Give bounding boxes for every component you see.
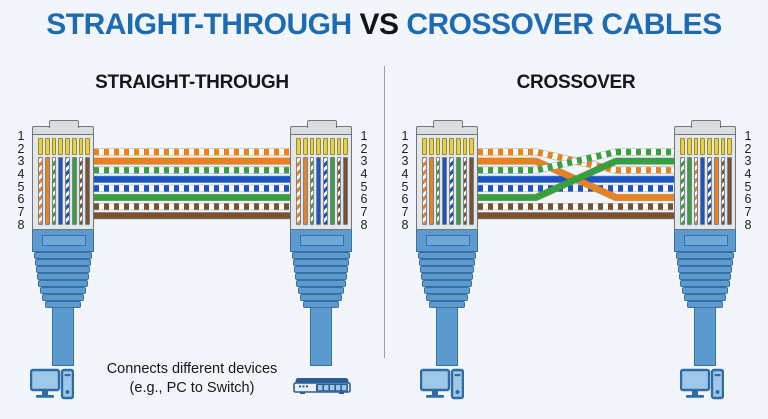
pc-desktop-glyph [420, 367, 464, 401]
wire-end-2-green [687, 157, 692, 225]
boot-window [684, 235, 728, 246]
plug-head [32, 126, 94, 134]
pin-number-4: 4 [355, 168, 373, 181]
wire-end-3-white-green [52, 157, 57, 225]
strain-rib-7 [684, 294, 726, 301]
strain-rib-5 [38, 280, 88, 287]
pin-numbers-right: 12345678 [355, 130, 373, 232]
wire-run-crossover [478, 148, 674, 226]
pin-number-8: 8 [12, 219, 30, 232]
wire-end-6-green [456, 157, 461, 225]
wire-end-2-orange [45, 157, 50, 225]
panel-crossover: 12345678 12345678 Connec [384, 0, 768, 419]
contact-4 [700, 138, 705, 155]
plug-wire-ends [422, 157, 474, 225]
crossover-wire-svg [478, 148, 674, 226]
wire-end-6-orange [714, 157, 719, 225]
boot-window [42, 235, 86, 246]
strain-rib-6 [298, 287, 344, 294]
pin-number-8: 8 [396, 219, 414, 232]
plug-latch-tab [433, 120, 463, 128]
contact-7 [721, 138, 726, 155]
plug-body [674, 134, 736, 230]
caption-line-1: Connects different devices [0, 360, 384, 379]
strain-rib-5 [296, 280, 346, 287]
strain-rib-4 [295, 273, 347, 280]
pin-number-8: 8 [355, 219, 373, 232]
contact-8 [343, 138, 348, 155]
caption-straight-through: Connects different devices (e.g., PC to … [0, 360, 384, 398]
contact-7 [463, 138, 468, 155]
contact-1 [296, 138, 301, 155]
plug-latch-tab [307, 120, 337, 128]
contact-3 [52, 138, 57, 155]
strain-relief [416, 252, 478, 308]
wire-end-3-white-green [310, 157, 315, 225]
plug-gold-contacts [296, 138, 348, 155]
strain-rib-2 [419, 259, 475, 266]
wire-end-6-green [72, 157, 77, 225]
strain-rib-1 [676, 252, 734, 259]
plug-boot [416, 230, 478, 252]
contact-1 [680, 138, 685, 155]
pc-desktop-icon [680, 367, 724, 406]
wire-end-5-white-blue [707, 157, 712, 225]
wire-end-7-white-brown [463, 157, 468, 225]
strain-rib-4 [37, 273, 89, 280]
strain-rib-4 [421, 273, 473, 280]
wire-end-1-white-orange [422, 157, 427, 225]
wire-end-7-white-brown [337, 157, 342, 225]
wire-end-1-white-orange [38, 157, 43, 225]
contact-5 [449, 138, 454, 155]
plug-latch-tab [691, 120, 721, 128]
wire-run-straight [94, 148, 290, 226]
strain-rib-1 [292, 252, 350, 259]
strain-rib-8 [45, 301, 81, 308]
strain-rib-3 [420, 266, 474, 273]
wire-end-8-brown [727, 157, 732, 225]
strain-rib-2 [293, 259, 349, 266]
rj45-plug-right [674, 126, 736, 366]
plug-gold-contacts [422, 138, 474, 155]
contact-5 [323, 138, 328, 155]
cable-jacket [310, 308, 332, 366]
pin-number-1: 1 [739, 130, 757, 143]
boot-window [300, 235, 344, 246]
plug-wire-ends [680, 157, 732, 225]
pin-number-7: 7 [12, 206, 30, 219]
strain-rib-3 [36, 266, 90, 273]
plug-body [32, 134, 94, 230]
plug-head [674, 126, 736, 134]
wire-end-7-white-brown [79, 157, 84, 225]
pin-numbers-left: 12345678 [396, 130, 414, 232]
rj45-plug-left [32, 126, 94, 366]
cable-jacket [694, 308, 716, 366]
wire-end-3-white-green [436, 157, 441, 225]
pin-number-4: 4 [396, 168, 414, 181]
strain-rib-5 [422, 280, 472, 287]
rj45-plug-left [416, 126, 478, 366]
strain-rib-7 [426, 294, 468, 301]
wire-end-4-blue [58, 157, 63, 225]
strain-rib-2 [677, 259, 733, 266]
wire-end-4-blue [316, 157, 321, 225]
panel-straight-through: 12345678 12345678 [0, 0, 384, 419]
plug-latch-tab [49, 120, 79, 128]
contact-1 [422, 138, 427, 155]
contact-3 [436, 138, 441, 155]
plug-boot [290, 230, 352, 252]
contact-3 [310, 138, 315, 155]
strain-rib-2 [35, 259, 91, 266]
plug-body [290, 134, 352, 230]
contact-4 [316, 138, 321, 155]
contact-4 [442, 138, 447, 155]
plug-gold-contacts [38, 138, 90, 155]
plug-head [416, 126, 478, 134]
strain-rib-6 [682, 287, 728, 294]
pc-desktop-icon [420, 367, 464, 406]
contact-6 [714, 138, 719, 155]
wire-end-7-white-brown [721, 157, 726, 225]
contact-8 [727, 138, 732, 155]
strain-rib-7 [42, 294, 84, 301]
cable-jacket [436, 308, 458, 366]
contact-6 [330, 138, 335, 155]
wire-end-2-orange [429, 157, 434, 225]
strain-rib-4 [679, 273, 731, 280]
wire-end-4-blue [700, 157, 705, 225]
contact-2 [45, 138, 50, 155]
pin-numbers-left: 12345678 [12, 130, 30, 232]
contact-4 [58, 138, 63, 155]
strain-rib-6 [424, 287, 470, 294]
contact-6 [456, 138, 461, 155]
plug-boot [674, 230, 736, 252]
pin-number-8: 8 [739, 219, 757, 232]
contact-8 [469, 138, 474, 155]
wire-end-1-white-green [680, 157, 685, 225]
strain-relief [290, 252, 352, 308]
strain-relief [674, 252, 736, 308]
strain-relief [32, 252, 94, 308]
wire-end-3-white-orange [694, 157, 699, 225]
wire-end-5-white-blue [449, 157, 454, 225]
pin-number-7: 7 [355, 206, 373, 219]
plug-wire-ends [38, 157, 90, 225]
contact-1 [38, 138, 43, 155]
strain-rib-8 [303, 301, 339, 308]
pin-number-7: 7 [739, 206, 757, 219]
pin-number-4: 4 [739, 168, 757, 181]
wire-end-8-brown [343, 157, 348, 225]
wire-end-8-brown [85, 157, 90, 225]
contact-7 [79, 138, 84, 155]
wire-end-8-brown [469, 157, 474, 225]
pc-desktop-glyph [680, 367, 724, 401]
wire-end-4-blue [442, 157, 447, 225]
contact-7 [337, 138, 342, 155]
pin-number-1: 1 [355, 130, 373, 143]
plug-body [416, 134, 478, 230]
pin-number-1: 1 [396, 130, 414, 143]
strain-rib-3 [678, 266, 732, 273]
strain-rib-6 [40, 287, 86, 294]
strain-rib-1 [34, 252, 92, 259]
wire-end-2-orange [303, 157, 308, 225]
strain-rib-7 [300, 294, 342, 301]
plug-gold-contacts [680, 138, 732, 155]
pin-number-4: 4 [12, 168, 30, 181]
wire-end-6-green [330, 157, 335, 225]
strain-rib-8 [429, 301, 465, 308]
contact-2 [429, 138, 434, 155]
strain-rib-1 [418, 252, 476, 259]
strain-rib-8 [687, 301, 723, 308]
contact-2 [303, 138, 308, 155]
contact-5 [65, 138, 70, 155]
rj45-plug-right [290, 126, 352, 366]
pin-number-7: 7 [396, 206, 414, 219]
contact-5 [707, 138, 712, 155]
contact-6 [72, 138, 77, 155]
diagram-canvas: STRAIGHT-THROUGH VS CROSSOVER CABLES STR… [0, 0, 768, 419]
contact-3 [694, 138, 699, 155]
cable-jacket [52, 308, 74, 366]
wire-end-1-white-orange [296, 157, 301, 225]
boot-window [426, 235, 470, 246]
wire-end-5-white-blue [65, 157, 70, 225]
strain-rib-5 [680, 280, 730, 287]
pin-number-1: 1 [12, 130, 30, 143]
pin-numbers-right: 12345678 [739, 130, 757, 232]
contact-2 [687, 138, 692, 155]
caption-line-2: (e.g., PC to Switch) [0, 379, 384, 398]
contact-8 [85, 138, 90, 155]
strain-rib-3 [294, 266, 348, 273]
straight-wire-svg [94, 148, 290, 226]
plug-head [290, 126, 352, 134]
plug-boot [32, 230, 94, 252]
plug-wire-ends [296, 157, 348, 225]
wire-end-5-white-blue [323, 157, 328, 225]
